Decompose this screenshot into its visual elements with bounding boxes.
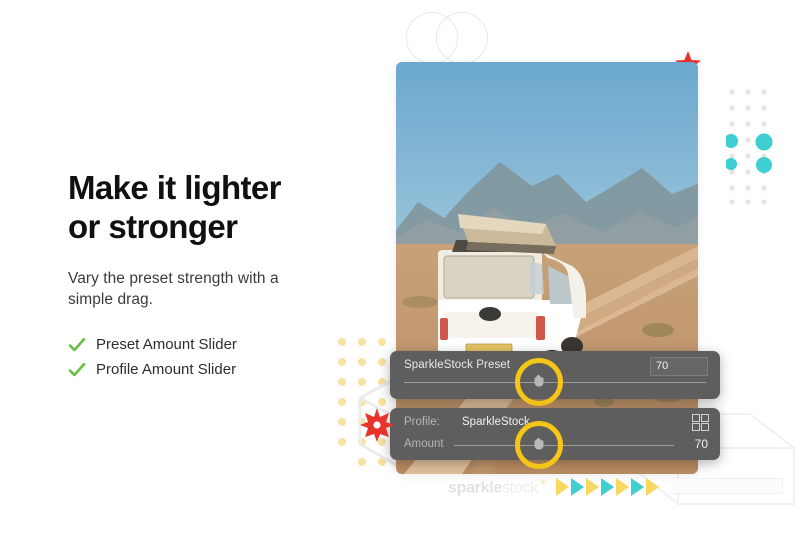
grid-2x2-icon[interactable] bbox=[692, 414, 708, 430]
sparklestock-brand: sparklestock✳ bbox=[448, 477, 661, 497]
triangle-icon bbox=[616, 478, 629, 496]
circle-outline-right bbox=[436, 12, 488, 64]
list-item: Preset Amount Slider bbox=[68, 336, 388, 354]
triangle-icon bbox=[556, 478, 569, 496]
triangle-icon bbox=[646, 478, 659, 496]
preset-amount-input[interactable]: 70 bbox=[650, 357, 708, 376]
amount-value: 70 bbox=[695, 437, 708, 451]
profile-amount-panel[interactable]: Profile: SparkleStock Amount 70 bbox=[390, 408, 720, 460]
copy-column: Make it lighter or stronger Vary the pre… bbox=[68, 168, 388, 386]
profile-selected-value[interactable]: SparkleStock bbox=[462, 416, 530, 428]
list-item-label: Profile Amount Slider bbox=[96, 361, 236, 379]
list-item: Profile Amount Slider bbox=[68, 361, 388, 379]
circle-outline-left bbox=[406, 12, 458, 64]
overlapping-circles-decoration bbox=[406, 12, 490, 64]
amount-slider-highlight-ring bbox=[515, 421, 563, 469]
headline-line-1: Make it lighter bbox=[68, 169, 281, 206]
triangle-icon bbox=[571, 478, 584, 496]
preset-amount-panel[interactable]: SparkleStock Preset 70 bbox=[390, 351, 720, 399]
brand-name-bold: sparkle bbox=[448, 480, 502, 497]
headline-line-2: or stronger bbox=[68, 207, 388, 246]
check-icon bbox=[68, 336, 86, 354]
teal-dot-grid-decoration bbox=[726, 86, 796, 206]
amount-slider-track[interactable] bbox=[454, 445, 674, 446]
brand-wordmark: sparklestock✳ bbox=[448, 476, 548, 497]
slide-canvas: SparkleStock Preset 70 Profile: SparkleS… bbox=[0, 0, 800, 534]
page-title: Make it lighter or stronger bbox=[68, 168, 388, 246]
profile-label: Profile: bbox=[404, 416, 440, 428]
sparkle-icon: ✳ bbox=[539, 477, 548, 489]
amount-label: Amount bbox=[404, 438, 444, 450]
triangle-icon bbox=[601, 478, 614, 496]
brand-name-light: stock bbox=[502, 480, 538, 497]
check-icon bbox=[68, 361, 86, 379]
preset-amount-value: 70 bbox=[656, 360, 668, 372]
triangle-icon bbox=[586, 478, 599, 496]
list-item-label: Preset Amount Slider bbox=[96, 336, 237, 354]
brand-tail-decoration bbox=[672, 478, 783, 494]
preset-panel-title: SparkleStock Preset bbox=[404, 359, 510, 371]
triangle-icon bbox=[631, 478, 644, 496]
preset-slider-highlight-ring bbox=[515, 358, 563, 406]
triangle-row-decoration bbox=[556, 478, 661, 496]
red-starburst-decoration bbox=[360, 408, 394, 442]
subcopy-text: Vary the preset strength with a simple d… bbox=[68, 268, 318, 310]
feature-list: Preset Amount Slider Profile Amount Slid… bbox=[68, 336, 388, 379]
